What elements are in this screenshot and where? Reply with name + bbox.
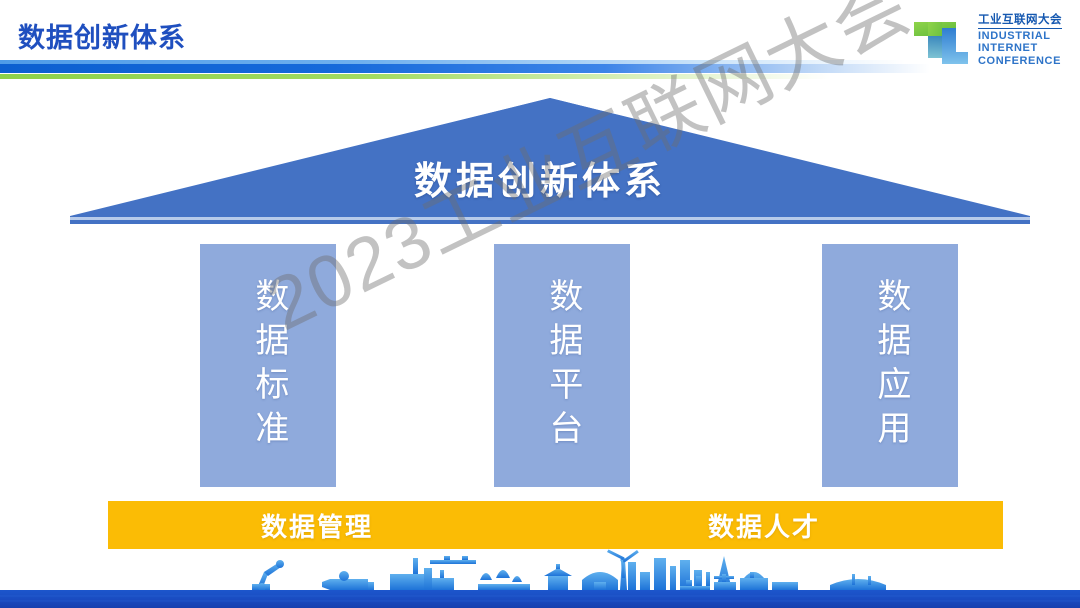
header-divider-blue [0,64,930,73]
base-label-data-talent: 数据人才 [708,507,820,544]
page-title: 数据创新体系 [18,16,186,55]
logo-en-line1: INDUSTRIAL [978,30,1062,42]
skyline-silhouette-icon [252,550,886,592]
logo-mark-icon [912,14,970,66]
footer-skyline [0,546,1080,608]
header-divider-green [0,74,830,79]
diagram-pillar-data-standard: 数据标准 [200,244,336,487]
logo-en-line2: INTERNET [978,42,1062,54]
logo-cn-name: 工业互联网大会 [978,14,1062,29]
footer-band [0,590,1080,608]
diagram-roof-label: 数据创新体系 [0,150,1080,205]
base-label-data-management: 数据管理 [261,507,373,544]
slide-canvas: 数据创新体系 工业互联网大会 INDUSTRIAL [0,0,1080,608]
conference-logo: 工业互联网大会 INDUSTRIAL INTERNET CONFERENCE [912,14,1062,67]
logo-text: 工业互联网大会 INDUSTRIAL INTERNET CONFERENCE [978,14,1062,67]
pillar-label: 数据平台 [544,278,580,454]
diagram-pillar-data-application: 数据应用 [822,244,958,487]
pillar-label: 数据标准 [250,278,286,454]
pillar-label: 数据应用 [872,278,908,454]
logo-en-line3: CONFERENCE [978,55,1062,67]
diagram-pillar-data-platform: 数据平台 [494,244,630,487]
diagram-base-bar: 数据管理 数据人才 [108,501,1003,549]
